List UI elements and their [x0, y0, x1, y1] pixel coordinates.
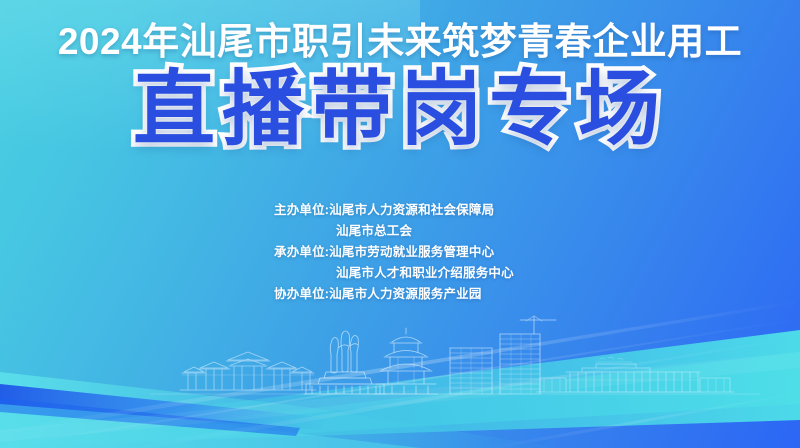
organizer-value: 汕尾市人力资源服务产业园 — [329, 284, 481, 305]
organizer-label: 承办单位: — [274, 242, 329, 263]
statue-monument-icon — [304, 331, 386, 394]
paifang-gate-icon — [180, 352, 316, 390]
organizer-label: 协办单位: — [274, 284, 329, 305]
organizer-value: 汕尾市总工会 — [336, 221, 412, 242]
kicker-line: 2024年汕尾市职引未来筑梦青春企业用工 — [0, 22, 800, 62]
headline-block: 2024年汕尾市职引未来筑梦青春企业用工 直播带岗专场 — [0, 22, 800, 152]
skyline-illustration — [0, 312, 800, 404]
organizer-line: 汕尾市人才和职业介绍服务中心 — [274, 263, 526, 284]
organizer-label: 主办单位: — [274, 200, 329, 221]
page-title: 直播带岗专场 — [0, 68, 800, 152]
organizer-value: 汕尾市人才和职业介绍服务中心 — [336, 263, 514, 284]
organizer-list: 主办单位: 汕尾市人力资源和社会保障局 汕尾市总工会 承办单位: 汕尾市劳动就业… — [0, 200, 800, 305]
organizer-line: 主办单位: 汕尾市人力资源和社会保障局 — [274, 200, 526, 221]
skyline-svg — [0, 312, 800, 404]
organizer-line: 汕尾市总工会 — [274, 221, 526, 242]
highrise-tower-short-icon — [450, 348, 492, 394]
government-hall-icon — [536, 357, 734, 392]
organizer-line: 协办单位: 汕尾市人力资源服务产业园 — [274, 284, 526, 305]
pagoda-tower-icon — [374, 328, 438, 394]
poster-banner: 2024年汕尾市职引未来筑梦青春企业用工 直播带岗专场 主办单位: 汕尾市人力资… — [0, 0, 800, 448]
highrise-tower-tall-icon — [500, 316, 556, 394]
organizer-line: 承办单位: 汕尾市劳动就业服务管理中心 — [274, 242, 526, 263]
organizer-value: 汕尾市劳动就业服务管理中心 — [329, 242, 494, 263]
organizer-value: 汕尾市人力资源和社会保障局 — [329, 200, 494, 221]
